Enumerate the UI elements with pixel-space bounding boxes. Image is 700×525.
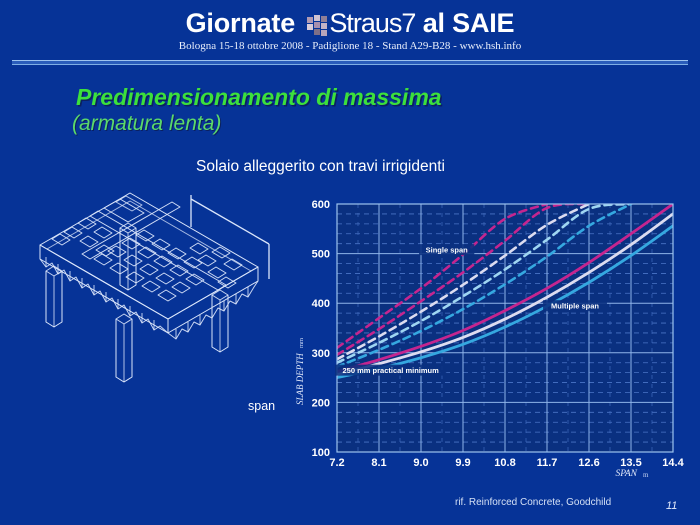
x-tick-label: 13.5: [620, 457, 641, 469]
y-tick-labels: 100200300400500600: [312, 199, 330, 459]
waffle-slab-svg: [20, 185, 310, 425]
x-tick-label: 9.9: [455, 457, 470, 469]
header-divider: [12, 60, 688, 65]
page-number: 11: [666, 500, 677, 512]
header-title: Giornate Straus7 al SAIE: [0, 8, 700, 39]
x-tick-labels: 7.28.19.09.910.811.712.613.514.4: [329, 457, 684, 469]
x-tick-label: 12.6: [578, 457, 599, 469]
header-title-straus7: Straus7: [329, 8, 415, 38]
y-tick-label: 400: [312, 298, 330, 310]
y-tick-label: 600: [312, 199, 330, 211]
span-dimension-label: span: [248, 399, 275, 413]
x-tick-label: 14.4: [662, 457, 684, 469]
header-subtitle: Bologna 15-18 ottobre 2008 - Padiglione …: [0, 40, 700, 52]
header-title-giornate: Giornate: [186, 8, 295, 38]
x-axis-unit: m: [643, 471, 649, 479]
page-subtitle: (armatura lenta): [72, 112, 221, 136]
chart-svg: 7.28.19.09.910.811.712.613.514.4 1002003…: [285, 190, 685, 488]
x-tick-label: 9.0: [413, 457, 428, 469]
slab-depth-vs-span-chart: 7.28.19.09.910.811.712.613.514.4 1002003…: [285, 190, 685, 488]
waffle-slab-isometric-diagram: span: [20, 185, 310, 425]
straus-grid-logo-icon: [307, 15, 327, 34]
x-axis-title: SPAN: [616, 469, 638, 479]
y-axis-unit: mm: [298, 338, 305, 348]
y-tick-label: 300: [312, 348, 330, 360]
page-title: Predimensionamento di massima: [76, 84, 442, 111]
x-tick-label: 8.1: [371, 457, 386, 469]
chart-annotation-label: Multiple span: [551, 302, 599, 311]
header-title-saie: al SAIE: [423, 8, 515, 38]
section-caption: Solaio alleggerito con travi irrigidenti: [196, 158, 445, 176]
chart-annotation-label: 250 mm practical minimum: [343, 366, 440, 375]
x-tick-label: 7.2: [329, 457, 344, 469]
presentation-slide: Giornate Straus7 al SAIE Bologna 15-18 o…: [0, 0, 700, 525]
x-tick-label: 10.8: [494, 457, 515, 469]
y-tick-label: 200: [312, 397, 330, 409]
y-tick-label: 100: [312, 447, 330, 459]
y-axis-title: SLAB DEPTH: [295, 353, 305, 405]
reference-note: rif. Reinforced Concrete, Goodchild: [455, 497, 611, 508]
y-tick-label: 500: [312, 249, 330, 261]
slide-header: Giornate Straus7 al SAIE Bologna 15-18 o…: [0, 0, 700, 62]
x-tick-label: 11.7: [537, 457, 558, 469]
chart-annotation-label: Single span: [426, 246, 469, 255]
